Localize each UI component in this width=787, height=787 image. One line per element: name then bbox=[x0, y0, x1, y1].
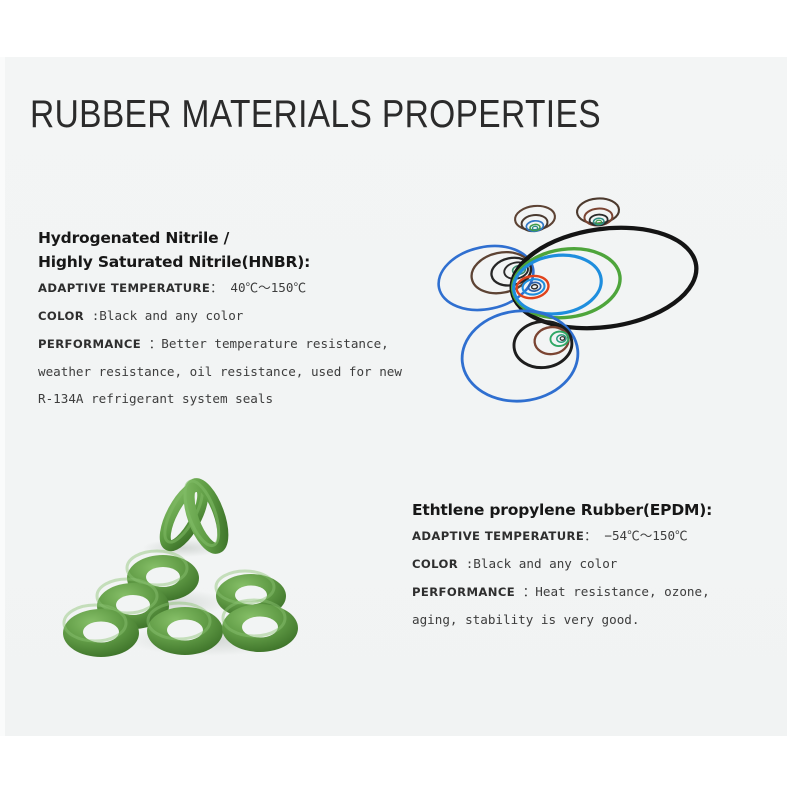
epdm-color-label: COLOR bbox=[412, 557, 458, 571]
material-block-hnbr: Hydrogenated Nitrile / Highly Saturated … bbox=[38, 226, 408, 412]
material-block-epdm: Ethtlene propylene Rubber(EPDM): ADAPTIV… bbox=[412, 498, 762, 633]
epdm-heading-line1: Ethtlene propylene Rubber(EPDM): bbox=[412, 498, 762, 522]
hnbr-performance-label: PERFORMANCE bbox=[38, 337, 141, 351]
page-title: RUBBER MATERIALS PROPERTIES bbox=[30, 93, 601, 137]
epdm-temperature-label: ADAPTIVE TEMPERATURE bbox=[412, 529, 584, 543]
green-o-rings-illustration bbox=[58, 468, 328, 673]
epdm-performance: PERFORMANCE ：Heat resistance, ozone, agi… bbox=[412, 578, 762, 633]
hnbr-temperature-label: ADAPTIVE TEMPERATURE bbox=[38, 281, 210, 295]
epdm-performance-label: PERFORMANCE bbox=[412, 585, 515, 599]
epdm-temperature-colon: ： bbox=[584, 528, 604, 543]
epdm-temperature-value: −54℃～150℃ bbox=[604, 528, 687, 543]
hnbr-color-label: COLOR bbox=[38, 309, 84, 323]
hnbr-performance: PERFORMANCE ：Better temperature resistan… bbox=[38, 330, 408, 412]
hnbr-color-value: :Black and any color bbox=[92, 308, 244, 323]
hnbr-heading-line2: Highly Saturated Nitrile(HNBR): bbox=[38, 250, 408, 274]
epdm-color-value: :Black and any color bbox=[466, 556, 618, 571]
hnbr-heading-line1: Hydrogenated Nitrile / bbox=[38, 226, 408, 250]
epdm-color: COLOR :Black and any color bbox=[412, 550, 762, 578]
hnbr-temperature-value: 40℃～150℃ bbox=[230, 280, 306, 295]
epdm-temperature: ADAPTIVE TEMPERATURE： −54℃～150℃ bbox=[412, 522, 762, 550]
assorted-o-rings-illustration bbox=[398, 178, 728, 434]
hnbr-color: COLOR :Black and any color bbox=[38, 302, 408, 330]
hnbr-temperature: ADAPTIVE TEMPERATURE： 40℃～150℃ bbox=[38, 274, 408, 302]
page-root: RUBBER MATERIALS PROPERTIES Hydrogenated… bbox=[0, 0, 787, 787]
hnbr-temperature-colon: ： bbox=[210, 280, 230, 295]
